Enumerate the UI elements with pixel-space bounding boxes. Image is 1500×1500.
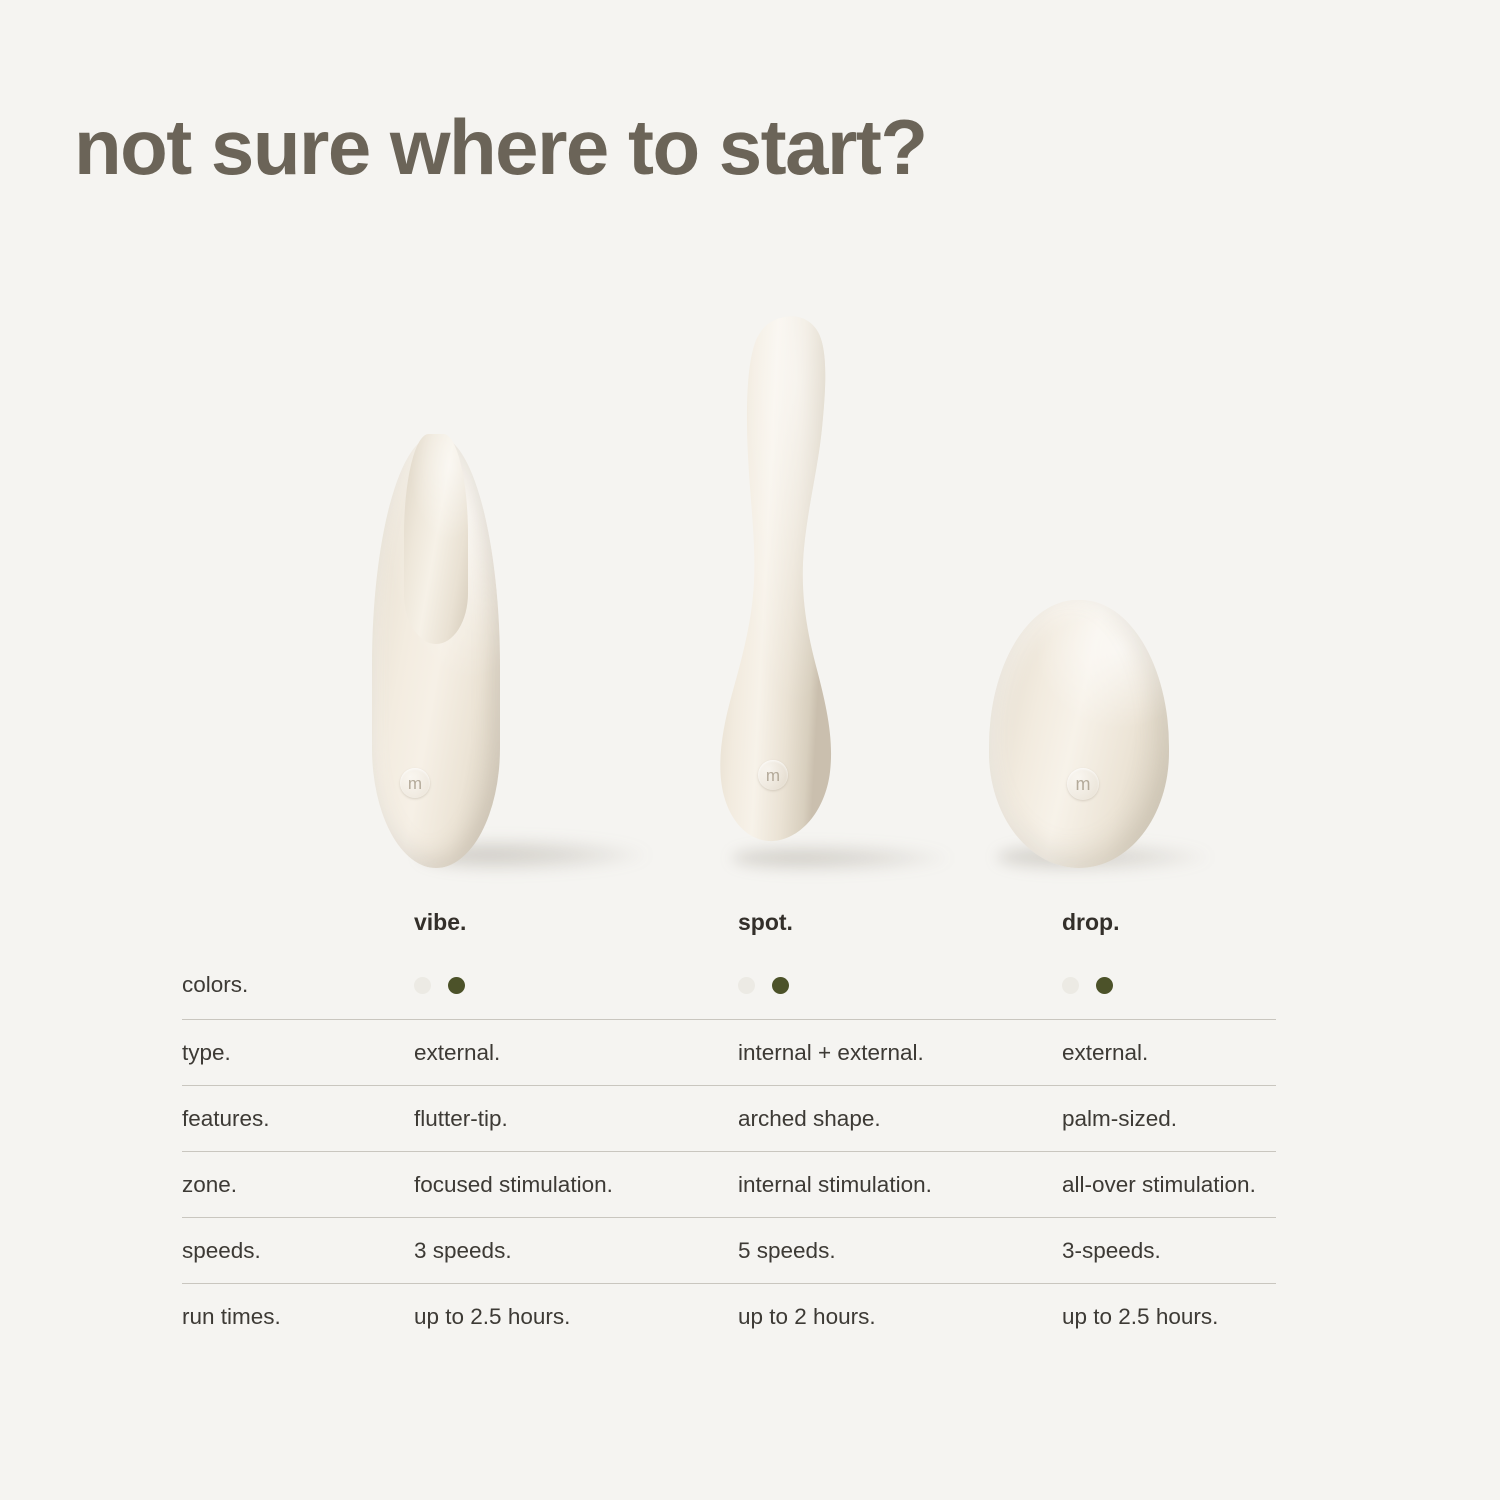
row-label-run-times: run times. — [182, 1304, 414, 1330]
features-cell-vibe: flutter-tip. — [414, 1106, 738, 1132]
run-times-cell-drop: up to 2.5 hours. — [1062, 1304, 1342, 1330]
row-label-colors: colors. — [182, 972, 414, 998]
table-row-type: type. external. internal + external. ext… — [182, 1019, 1276, 1085]
swatch-olive[interactable] — [1096, 977, 1113, 994]
features-cell-drop: palm-sized. — [1062, 1106, 1342, 1132]
colors-cell-drop — [1062, 977, 1342, 994]
row-label-features: features. — [182, 1106, 414, 1132]
column-header-drop: drop. — [1062, 909, 1342, 936]
zone-cell-spot: internal stimulation. — [738, 1172, 1062, 1198]
drop-power-button-m-icon[interactable]: m — [1067, 768, 1099, 800]
run-times-cell-spot: up to 2 hours. — [738, 1304, 1062, 1330]
run-times-cell-vibe: up to 2.5 hours. — [414, 1304, 738, 1330]
table-row-zone: zone. focused stimulation. internal stim… — [182, 1151, 1276, 1217]
type-cell-spot: internal + external. — [738, 1040, 1062, 1066]
swatch-olive[interactable] — [448, 977, 465, 994]
spot-power-button-m-icon[interactable]: m — [758, 760, 788, 790]
speeds-cell-drop: 3-speeds. — [1062, 1238, 1342, 1264]
table-row-features: features. flutter-tip. arched shape. pal… — [182, 1085, 1276, 1151]
swatch-cream[interactable] — [414, 977, 431, 994]
table-row-colors: colors. — [182, 951, 1276, 1019]
speeds-cell-vibe: 3 speeds. — [414, 1238, 738, 1264]
product-image-vibe[interactable]: m — [350, 430, 590, 870]
colors-cell-vibe — [414, 977, 738, 994]
type-cell-vibe: external. — [414, 1040, 738, 1066]
column-header-spot: spot. — [738, 909, 1062, 936]
zone-cell-drop: all-over stimulation. — [1062, 1172, 1342, 1198]
swatch-olive[interactable] — [772, 977, 789, 994]
row-label-zone: zone. — [182, 1172, 414, 1198]
product-image-spot[interactable]: m — [680, 310, 900, 870]
spot-body — [680, 310, 900, 870]
zone-cell-vibe: focused stimulation. — [414, 1172, 738, 1198]
swatch-cream[interactable] — [738, 977, 755, 994]
column-header-vibe: vibe. — [414, 909, 738, 936]
row-label-type: type. — [182, 1040, 414, 1066]
type-cell-drop: external. — [1062, 1040, 1342, 1066]
vibe-power-button-m-icon[interactable]: m — [400, 768, 430, 798]
product-image-row: m m — [0, 250, 1500, 870]
comparison-table: vibe. spot. drop. colors. type. ex — [182, 893, 1276, 1349]
row-label-speeds: speeds. — [182, 1238, 414, 1264]
colors-cell-spot — [738, 977, 1062, 994]
swatch-cream[interactable] — [1062, 977, 1079, 994]
features-cell-spot: arched shape. — [738, 1106, 1062, 1132]
drop-body: m — [989, 600, 1169, 868]
speeds-cell-spot: 5 speeds. — [738, 1238, 1062, 1264]
product-image-drop[interactable]: m — [975, 595, 1215, 870]
table-row-run-times: run times. up to 2.5 hours. up to 2 hour… — [182, 1283, 1276, 1349]
table-header-row: vibe. spot. drop. — [182, 893, 1276, 951]
page-title: not sure where to start? — [74, 108, 926, 186]
vibe-body: m — [372, 436, 500, 868]
table-row-speeds: speeds. 3 speeds. 5 speeds. 3-speeds. — [182, 1217, 1276, 1283]
